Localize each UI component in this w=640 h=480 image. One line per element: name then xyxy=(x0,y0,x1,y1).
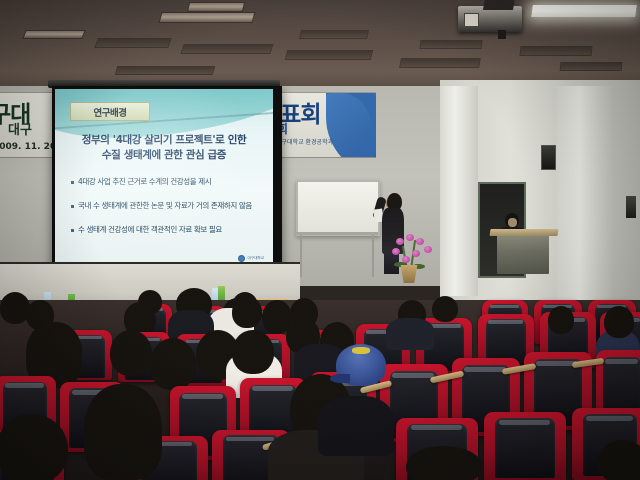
audience-member-head xyxy=(138,290,162,314)
ceiling-light-fixture xyxy=(94,38,172,48)
whiteboard-leg xyxy=(300,235,302,277)
projector-lens xyxy=(464,13,479,27)
audience-member-head xyxy=(110,330,152,376)
slide-bullet-item: 수 생태계 건강성에 대한 객관적인 자료 확보 필요 xyxy=(71,225,267,235)
slide-bullet-text: 4대강 사업 추진 근거로 수계의 건강성을 제시 xyxy=(78,177,211,186)
audience-member-body xyxy=(386,318,434,350)
slide-bullet-text: 수 생태계 건강성에 대한 객관적인 자료 확보 필요 xyxy=(78,225,222,234)
cap-stripe xyxy=(352,347,370,354)
whiteboard-pen-tray xyxy=(294,232,378,235)
whiteboard xyxy=(296,180,380,236)
audience-member-head xyxy=(232,330,274,374)
orchid-bloom xyxy=(406,234,414,241)
ceiling-light-fixture xyxy=(180,44,273,54)
wall-column xyxy=(556,86,614,311)
cap-brim xyxy=(330,374,350,383)
audience-member-body xyxy=(318,396,394,456)
orchid-bloom xyxy=(424,246,432,253)
wall-speaker-icon xyxy=(541,145,556,170)
ceiling-light-fixture xyxy=(419,40,482,49)
ceiling-light-fixture xyxy=(519,46,592,56)
slide-bullet-text: 국내 수 생태계에 관한한 논문 및 자료가 거의 존재하지 않음 xyxy=(78,201,252,210)
slide-bullet-list: 4대강 사업 추진 근거로 수계의 건강성을 제시 국내 수 생태계에 관한한 … xyxy=(71,177,267,249)
audience-member-head xyxy=(548,306,574,334)
ceiling-light-fixture xyxy=(285,50,373,60)
ceiling-light-fixture xyxy=(187,2,245,12)
audience-member-head xyxy=(604,306,634,338)
audience-member-head xyxy=(432,296,458,322)
baseball-cap xyxy=(336,344,386,386)
slide-heading: 정부의 '4대강 살리기 프로젝트'로 인한 수질 생태계에 관한 관심 급증 xyxy=(55,133,273,163)
projector-stem xyxy=(498,30,506,39)
audience-member-head xyxy=(0,414,68,480)
ceiling-light-fixture xyxy=(22,30,86,39)
wall-column xyxy=(440,86,478,296)
orchid-bloom xyxy=(412,250,420,257)
presentation-slide: 연구배경 정부의 '4대강 살리기 프로젝트'로 인한 수질 생태계에 관한 관… xyxy=(55,89,273,269)
university-logo-icon xyxy=(238,255,245,262)
orchid-bloom xyxy=(392,248,400,255)
slide-university-logo: 대구대학교 xyxy=(238,255,264,262)
projection-screen: 연구배경 정부의 '4대강 살리기 프로젝트'로 인한 수질 생태계에 관한 관… xyxy=(52,86,282,278)
projector-icon xyxy=(458,6,522,32)
banner-left-subtitle: 대구 xyxy=(8,119,32,138)
ceiling-light-fixture xyxy=(158,12,255,23)
ceiling-light-fixture xyxy=(399,58,481,68)
audience-member-head xyxy=(150,338,196,390)
audience-member-head xyxy=(232,296,262,328)
orchid-bloom xyxy=(396,238,404,245)
ceiling-light-fixture xyxy=(299,30,369,39)
moderator-face xyxy=(508,218,517,227)
presenter-torso xyxy=(382,208,404,254)
wall-speaker-icon xyxy=(626,196,636,218)
slide-heading-line1: 정부의 '4대강 살리기 프로젝트'로 인한 xyxy=(55,133,273,148)
slide-bullet-item: 4대강 사업 추진 근거로 수계의 건강성을 제시 xyxy=(71,177,267,187)
projector-mount xyxy=(483,0,515,10)
lectern xyxy=(497,232,549,274)
ceiling-light-fixture xyxy=(560,62,623,71)
banner-swoosh-graphic xyxy=(326,92,376,158)
lecture-hall-photo: 구대 대구 2009. 11. 20(금) 발표회 표회 대구대학교 환경공학과… xyxy=(0,0,640,480)
whiteboard-leg xyxy=(372,235,374,277)
fluorescent-tube-light xyxy=(531,5,636,17)
audience-member-head xyxy=(84,384,162,480)
slide-bullet-item: 국내 수 생태계에 관한한 논문 및 자료가 거의 존재하지 않음 xyxy=(71,201,267,211)
auditorium-seat[interactable] xyxy=(484,412,566,480)
bullet-dot-icon xyxy=(71,205,74,208)
orchid-bloom xyxy=(416,238,424,245)
slide-logo-text: 대구대학교 xyxy=(247,256,264,261)
slide-heading-line2: 수질 생태계에 관한 관심 급증 xyxy=(55,148,273,163)
lectern-top-surface xyxy=(490,229,559,236)
bullet-dot-icon xyxy=(71,181,74,184)
audience-member-head xyxy=(598,440,640,480)
audience-member-head xyxy=(406,446,482,480)
banner-department-name: 대구대학교 환경공학과 xyxy=(276,137,333,146)
ceiling-light-fixture xyxy=(115,66,216,75)
slide-section-tag: 연구배경 xyxy=(70,102,150,121)
bullet-dot-icon xyxy=(71,229,74,232)
